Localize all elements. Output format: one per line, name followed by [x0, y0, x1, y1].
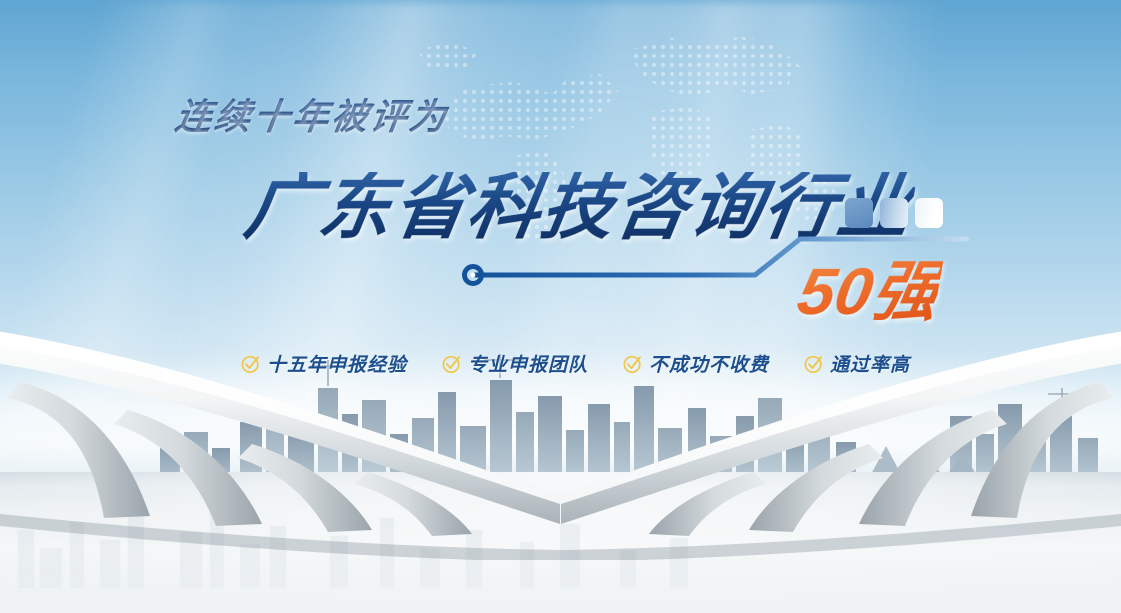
check-circle-icon	[240, 353, 262, 375]
feature-label: 通过率高	[830, 350, 910, 377]
feature-label: 十五年申报经验	[267, 350, 407, 377]
subheading: 连续十年被评为	[172, 88, 452, 140]
check-circle-icon	[441, 353, 463, 375]
square-light-icon	[915, 198, 943, 228]
feature-item-1: 十五年申报经验	[240, 350, 407, 377]
square-gradient-icon	[880, 198, 908, 228]
feature-item-4: 通过率高	[803, 350, 910, 377]
feature-label: 不成功不收费	[649, 350, 769, 377]
status-badge: 50强	[793, 258, 944, 324]
page-title: 广东省科技咨询行业	[240, 172, 917, 244]
feature-item-2: 专业申报团队	[441, 350, 588, 377]
decorative-squares	[845, 198, 943, 228]
feature-label: 专业申报团队	[468, 350, 588, 377]
reflective-floor	[0, 472, 1121, 613]
check-circle-icon	[622, 353, 644, 375]
feature-list: 十五年申报经验 专业申报团队 不成功不收费 通过率高	[240, 350, 920, 377]
feature-item-3: 不成功不收费	[622, 350, 769, 377]
promo-banner: 连续十年被评为 广东省科技咨询行业 50强	[0, 0, 1121, 613]
check-circle-icon	[803, 353, 825, 375]
square-solid-icon	[845, 198, 873, 228]
